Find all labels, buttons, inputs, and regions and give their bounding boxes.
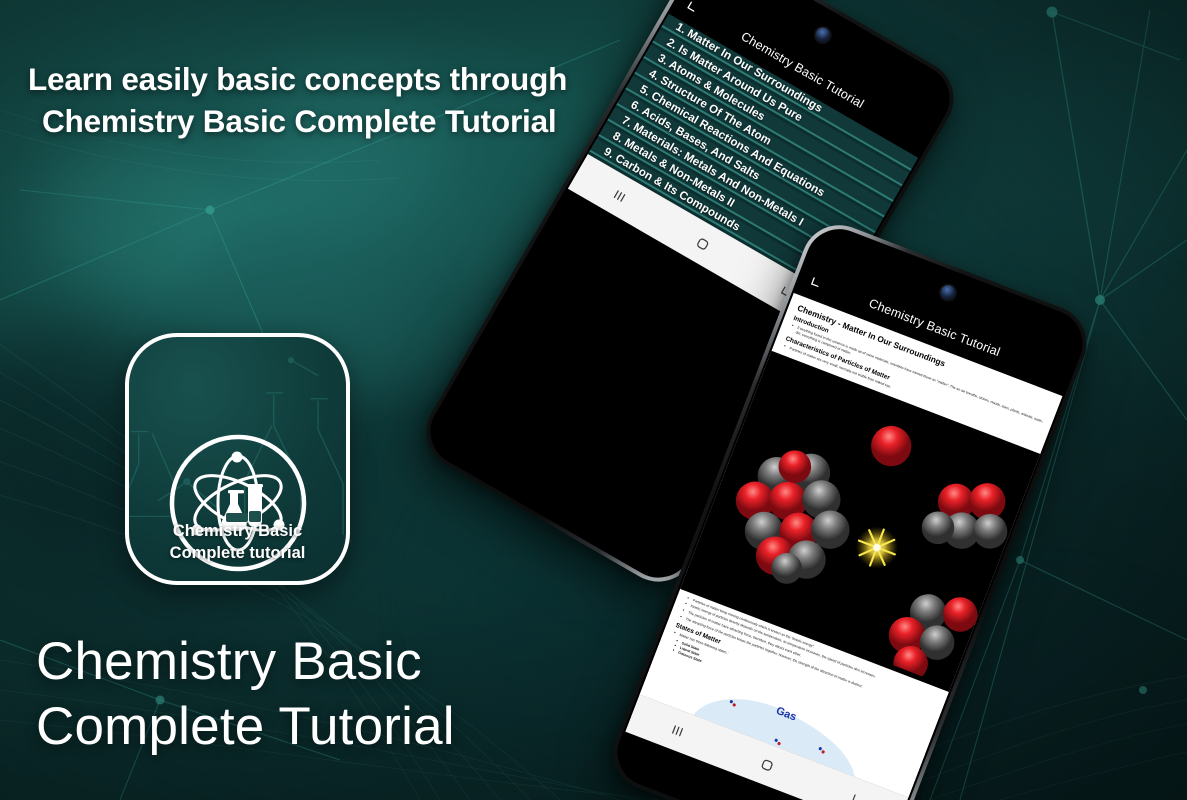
front-camera-icon: [813, 24, 833, 44]
headline-line-2: Chemistry Basic Complete Tutorial: [28, 100, 668, 142]
recents-icon[interactable]: [668, 721, 687, 740]
headline-line-1: Learn easily basic concepts through: [28, 61, 567, 97]
recents-icon[interactable]: [609, 185, 629, 205]
app-icon[interactable]: Chemistry Basic Complete tutorial: [125, 333, 350, 585]
back-chevron-icon[interactable]: [798, 270, 834, 294]
front-camera-icon: [939, 283, 958, 302]
app-icon-label-line-2: Complete tutorial: [129, 543, 346, 564]
page-title: Chemistry Basic Complete Tutorial: [36, 630, 596, 759]
poster-stage: Learn easily basic concepts through Chem…: [0, 0, 1187, 800]
app-icon-label: Chemistry Basic Complete tutorial: [129, 521, 346, 564]
page-title-line-2: Complete Tutorial: [36, 695, 596, 760]
home-icon[interactable]: [693, 234, 713, 254]
spark-icon: [850, 520, 905, 575]
page-title-line-1: Chemistry Basic: [36, 630, 596, 695]
poster-headline: Learn easily basic concepts through Chem…: [28, 58, 668, 142]
home-icon[interactable]: [758, 756, 777, 775]
app-icon-label-line-1: Chemistry Basic: [129, 521, 346, 542]
back-chevron-icon[interactable]: [849, 791, 866, 800]
